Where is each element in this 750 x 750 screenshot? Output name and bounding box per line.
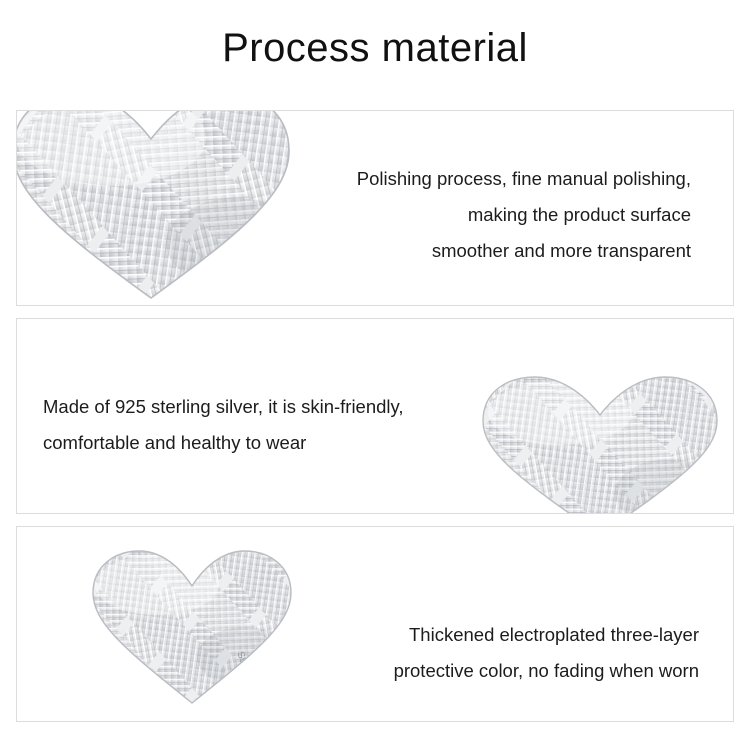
text-line: Thickened electroplated three-layer: [394, 617, 699, 653]
page-title: Process material: [0, 26, 750, 71]
silver-stamp-text: S925: [234, 650, 253, 676]
feature-card-polishing-text: Polishing process, fine manual polishing…: [357, 161, 691, 269]
text-line: protective color, no fading when worn: [394, 653, 699, 689]
woven-heart-image-1: [16, 110, 301, 306]
product-detail-page: Process material: [0, 0, 750, 750]
silver-stamp-text: S925: [677, 488, 696, 514]
text-line: Made of 925 sterling silver, it is skin-…: [43, 389, 404, 425]
text-line: smoother and more transparent: [357, 233, 691, 269]
feature-card-material-text: Made of 925 sterling silver, it is skin-…: [43, 389, 404, 461]
text-line: comfortable and healthy to wear: [43, 425, 404, 461]
feature-card-polishing: Polishing process, fine manual polishing…: [16, 110, 734, 306]
woven-heart-image-2: S925: [475, 373, 725, 514]
feature-card-material: S925 Made of 925 sterling silver, it is …: [16, 318, 734, 514]
woven-heart-image-3: S925: [87, 545, 297, 710]
text-line: making the product surface: [357, 197, 691, 233]
feature-card-plating-text: Thickened electroplated three-layer prot…: [394, 617, 699, 689]
text-line: Polishing process, fine manual polishing…: [357, 161, 691, 197]
feature-card-plating: S925 Thickened electroplated three-layer…: [16, 526, 734, 722]
